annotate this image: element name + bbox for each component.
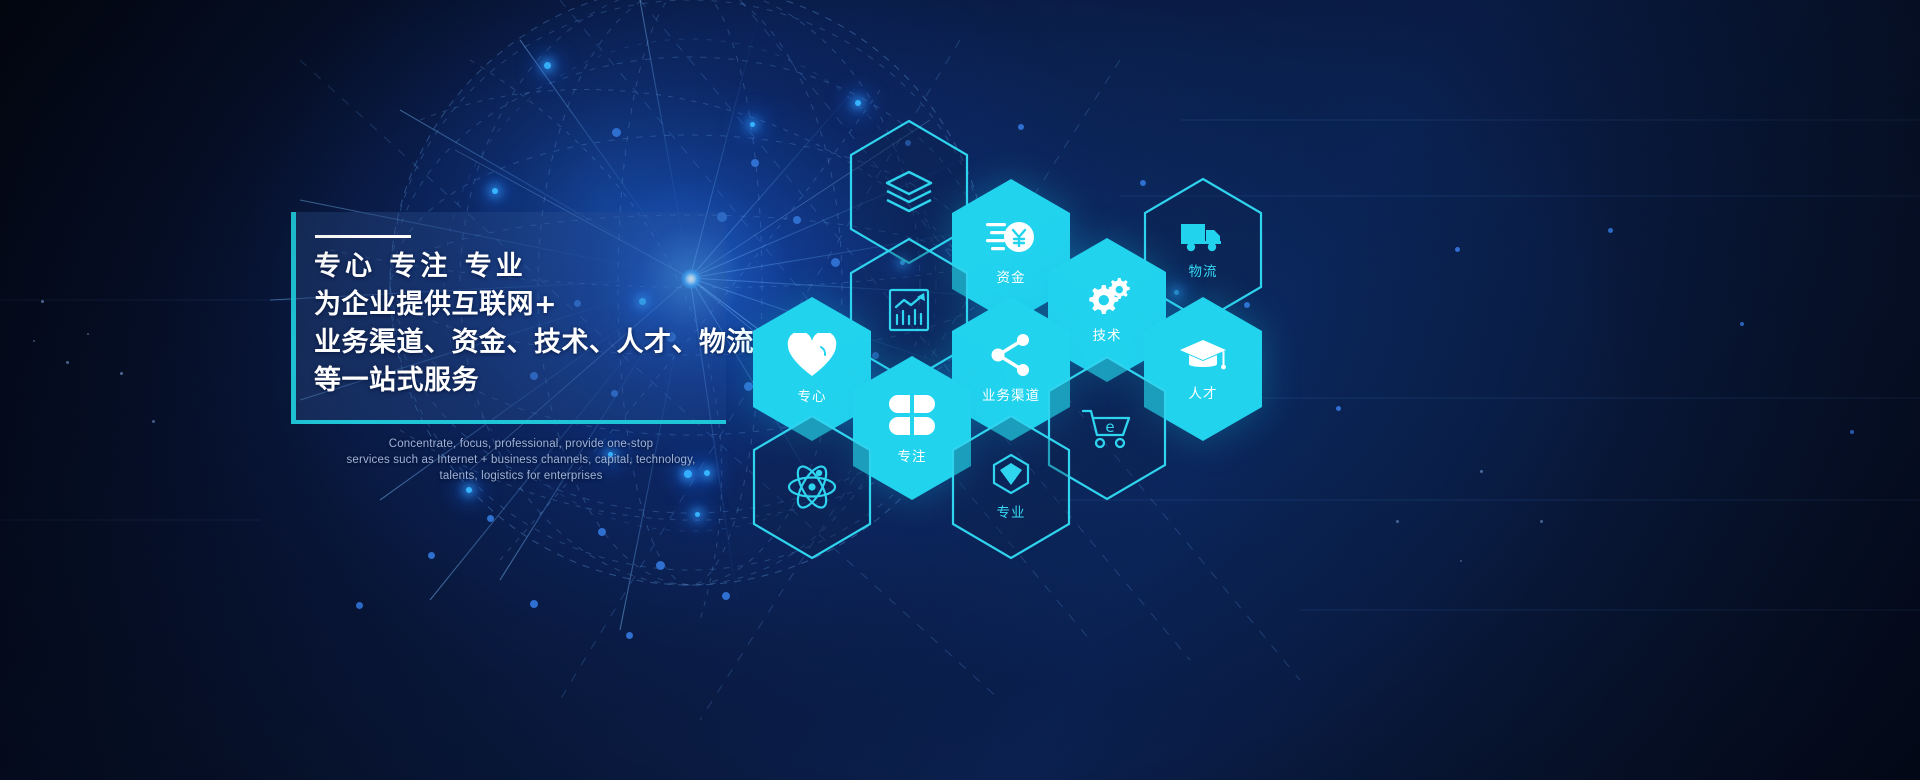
atom-icon [786,462,838,512]
hex-label-focus: 专注 [898,445,927,465]
hex-label-logistics: 物流 [1189,260,1218,280]
delivery-truck-icon [1179,220,1227,254]
e-shopping-cart-icon: e [1081,406,1133,450]
hex-label-technology: 技术 [1093,324,1122,344]
diamond-icon [991,453,1031,495]
hero-banner: 专心 专注 专业 为企业提供互联网+ 业务渠道、资金、技术、人才、物流 等一站式… [0,0,1920,780]
layers-icon [883,169,935,215]
hex-label-funds: 资金 [997,266,1026,286]
growth-chart-icon [886,286,932,334]
hexagon-grid: 资金 物流 [0,0,1920,780]
hex-label-concentrate: 专心 [798,385,827,405]
graduation-cap-icon [1178,336,1228,376]
gears-icon [1083,276,1131,318]
hex-label-talent: 人才 [1189,382,1218,402]
svg-text:e: e [1105,418,1114,436]
money-yen-icon [985,216,1037,260]
share-network-icon [988,334,1034,378]
clover-icon [888,391,936,439]
heart-icon [786,333,838,379]
hex-atom[interactable] [748,413,876,561]
hex-professional[interactable]: 专业 [947,413,1075,561]
hex-label-business-channels: 业务渠道 [982,384,1040,404]
hex-label-professional: 专业 [997,501,1026,521]
